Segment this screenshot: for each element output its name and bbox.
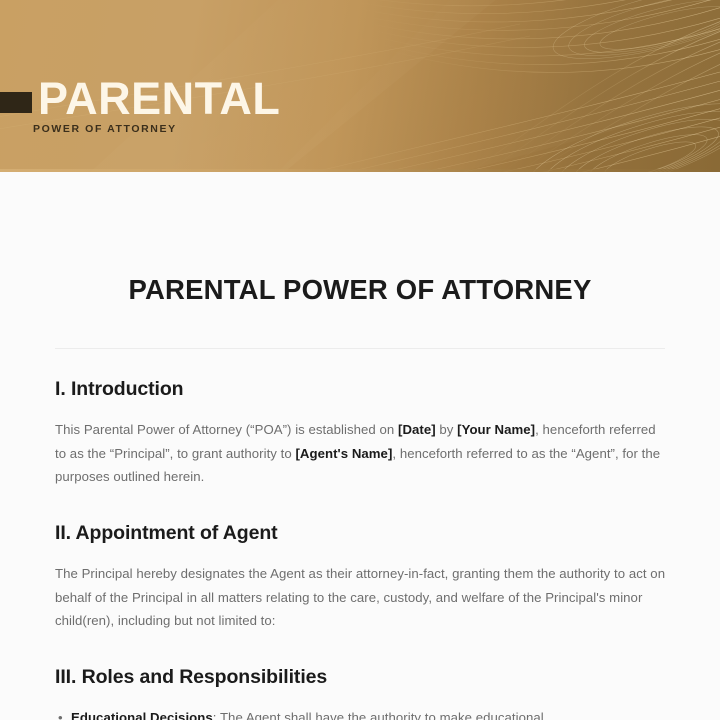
document-title: PARENTAL POWER OF ATTORNEY <box>0 274 720 306</box>
section-heading-introduction: I. Introduction <box>55 378 667 401</box>
section-body-appointment-of-agent: The Principal hereby designates the Agen… <box>55 562 667 633</box>
section-heading-appointment-of-agent: II. Appointment of Agent <box>55 522 667 545</box>
section-introduction: I. Introduction This Parental Power of A… <box>55 378 667 489</box>
section-heading-roles-and-responsibilities: III. Roles and Responsibilities <box>55 666 667 689</box>
roles-bullet-list: Educational Decisions: The Agent shall h… <box>55 706 667 720</box>
title-divider <box>55 348 665 349</box>
document-body: PARENTAL POWER OF ATTORNEY I. Introducti… <box>0 172 720 720</box>
section-appointment-of-agent: II. Appointment of Agent The Principal h… <box>55 522 667 633</box>
header-logo-subtitle: POWER OF ATTORNEY <box>33 124 177 135</box>
document-header-banner: PARENTAL POWER OF ATTORNEY <box>0 0 720 172</box>
bullet-item: Educational Decisions: The Agent shall h… <box>71 706 667 720</box>
section-roles-and-responsibilities: III. Roles and Responsibilities Educatio… <box>55 666 667 720</box>
document-page: PARENTAL POWER OF ATTORNEY PARENTAL POWE… <box>0 0 720 720</box>
document-content: I. Introduction This Parental Power of A… <box>55 378 667 720</box>
logo-bar-mark <box>0 92 32 113</box>
header-logo-title: PARENTAL <box>38 76 280 121</box>
section-body-introduction: This Parental Power of Attorney (“POA”) … <box>55 418 667 489</box>
